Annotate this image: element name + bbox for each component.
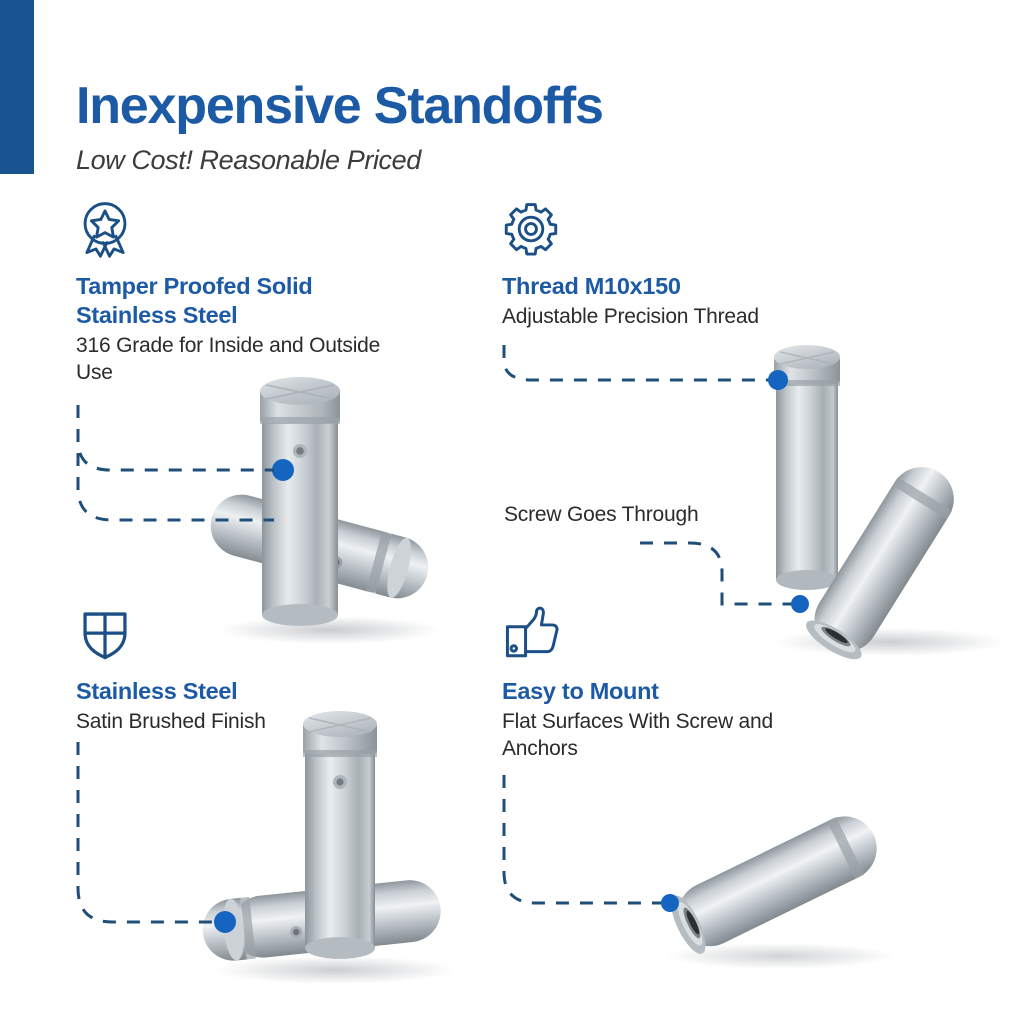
product-standoff-pair-top-left xyxy=(190,355,460,645)
product-standoff-pair-bottom-left xyxy=(185,690,475,990)
feature-title: Stainless Steel xyxy=(76,677,266,706)
feature-subtitle: Satin Brushed Finish xyxy=(76,708,266,735)
feature-stainless-steel: Stainless Steel Satin Brushed Finish xyxy=(76,605,266,735)
accent-bar xyxy=(0,0,34,174)
feature-thread: Thread M10x150 Adjustable Precision Thre… xyxy=(502,200,759,330)
feature-title: Tamper Proofed Solid Stainless Steel xyxy=(76,272,406,330)
page-subtitle: Low Cost! Reasonable Priced xyxy=(76,143,421,177)
product-standoff-single-bottom-right xyxy=(630,770,930,980)
feature-easy-to-mount: Easy to Mount Flat Surfaces With Screw a… xyxy=(502,605,822,762)
feature-subtitle: Adjustable Precision Thread xyxy=(502,303,759,330)
gear-icon xyxy=(502,200,560,258)
callout-line-thread xyxy=(504,345,772,380)
feature-subtitle: Flat Surfaces With Screw and Anchors xyxy=(502,708,822,762)
award-badge-icon xyxy=(76,200,134,258)
page-title: Inexpensive Standoffs xyxy=(76,76,603,136)
shield-icon xyxy=(76,605,134,663)
callout-label-screw-goes-through: Screw Goes Through xyxy=(504,500,698,530)
thumbs-up-icon xyxy=(502,605,560,663)
feature-subtitle: 316 Grade for Inside and Outside Use xyxy=(76,332,396,386)
feature-tamper-proofed: Tamper Proofed Solid Stainless Steel 316… xyxy=(76,200,406,386)
feature-title: Easy to Mount xyxy=(502,677,822,706)
feature-title: Thread M10x150 xyxy=(502,272,759,301)
infographic-page: Inexpensive Standoffs Low Cost! Reasonab… xyxy=(0,0,1024,1024)
